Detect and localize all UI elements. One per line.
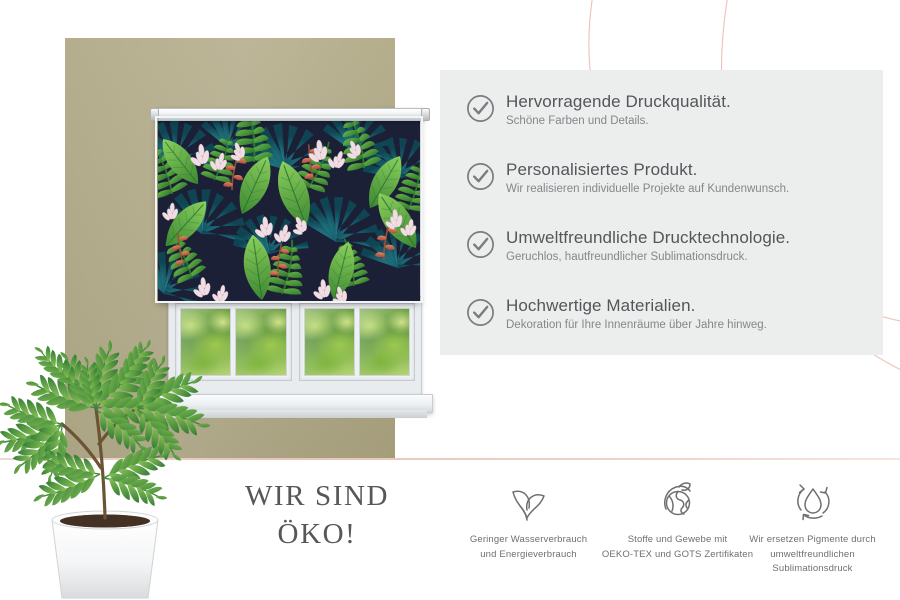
feature-title: Hervorragende Druckqualität. [506, 92, 731, 112]
feature-item: Hochwertige Materialien. Dekoration für … [466, 296, 767, 332]
plant-pot [52, 511, 158, 598]
feature-item: Personalisiertes Produkt. Wir realisiere… [466, 160, 789, 196]
eco-heading: WIR SIND ÖKO! [228, 478, 406, 553]
feature-title: Personalisiertes Produkt. [506, 160, 789, 180]
window-sash-right [299, 303, 416, 381]
eco-item-sublimation: Wir ersetzen Pigmente durch umweltfreund… [725, 473, 900, 577]
feature-subtitle: Dekoration für Ihre Innenräume über Jahr… [506, 318, 767, 332]
eco-heading-line2: ÖKO! [228, 516, 406, 554]
eco-caption: Wir ersetzen Pigmente durch umweltfreund… [725, 533, 900, 577]
features-panel: Hervorragende Druckqualität. Schöne Farb… [440, 70, 883, 355]
check-circle-icon [466, 298, 495, 327]
window-pane [359, 308, 410, 376]
feature-subtitle: Wir realisieren individuelle Projekte au… [506, 182, 789, 196]
feature-item: Umweltfreundliche Drucktechnologie. Geru… [466, 228, 790, 264]
roller-blind-bar [153, 108, 427, 121]
window-pane [235, 308, 286, 376]
feature-title: Umweltfreundliche Drucktechnologie. [506, 228, 790, 248]
feature-subtitle: Schöne Farben und Details. [506, 114, 731, 128]
eco-heading-line1: WIR SIND [228, 478, 406, 516]
feature-title: Hochwertige Materialien. [506, 296, 767, 316]
feature-subtitle: Geruchlos, hautfreundlicher Sublimations… [506, 250, 790, 264]
check-circle-icon [466, 94, 495, 123]
promo-graphic: Hervorragende Druckqualität. Schöne Farb… [0, 0, 900, 600]
check-circle-icon [466, 230, 495, 259]
window-pane [304, 308, 355, 376]
eco-caption-line2: umweltfreundlichen [725, 548, 900, 563]
check-circle-icon [466, 162, 495, 191]
eco-caption-line1: Wir ersetzen Pigmente durch [725, 533, 900, 548]
feature-item: Hervorragende Druckqualität. Schöne Farb… [466, 92, 731, 128]
potted-palm-plant [0, 268, 210, 600]
water-drop-recycle-icon [725, 473, 900, 529]
eco-caption-line3: Sublimationsdruck [725, 562, 900, 577]
